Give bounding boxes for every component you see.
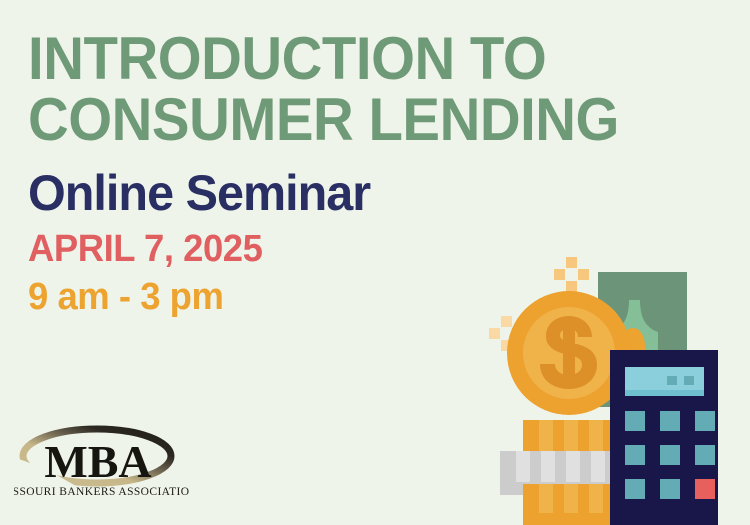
calculator-display (625, 367, 704, 396)
calculator-icon (610, 350, 718, 525)
headline-line-2: CONSUMER LENDING (28, 91, 677, 150)
subtitle: Online Seminar (28, 168, 697, 218)
calculator-keypad (625, 411, 715, 499)
poster-canvas: INTRODUCTION TO CONSUMER LENDING Online … (0, 0, 750, 525)
logo-organization-name: MISSOURI BANKERS ASSOCIATION (14, 486, 189, 498)
mba-logo-svg: MBA MISSOURI BANKERS ASSOCIATION (14, 424, 189, 502)
finance-illustration-svg (470, 248, 750, 525)
logo-acronym: MBA (44, 436, 151, 487)
finance-illustration (470, 248, 750, 525)
calculator-key-equals (695, 479, 715, 499)
mba-logo: MBA MISSOURI BANKERS ASSOCIATION (14, 424, 189, 502)
headline-line-1: INTRODUCTION TO (28, 30, 677, 89)
sparkle-top-icon (554, 257, 589, 292)
